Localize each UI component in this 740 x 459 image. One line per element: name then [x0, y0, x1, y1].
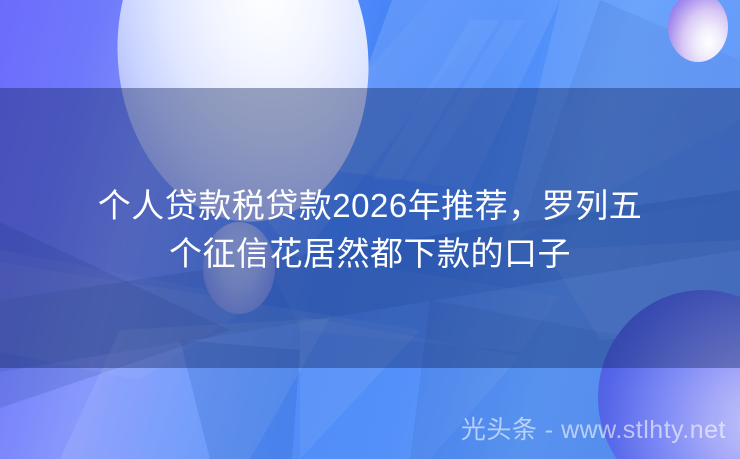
banner-title-line-1: 个人贷款税贷款2026年推荐，罗列五 — [24, 182, 716, 230]
banner-title: 个人贷款税贷款2026年推荐，罗列五 个征信花居然都下款的口子 — [0, 182, 740, 278]
promo-banner: 个人贷款税贷款2026年推荐，罗列五 个征信花居然都下款的口子 光头条 - ww… — [0, 0, 740, 459]
watermark-text: 光头条 - www.stlhty.net — [461, 415, 726, 445]
banner-title-line-2: 个征信花居然都下款的口子 — [24, 230, 716, 278]
